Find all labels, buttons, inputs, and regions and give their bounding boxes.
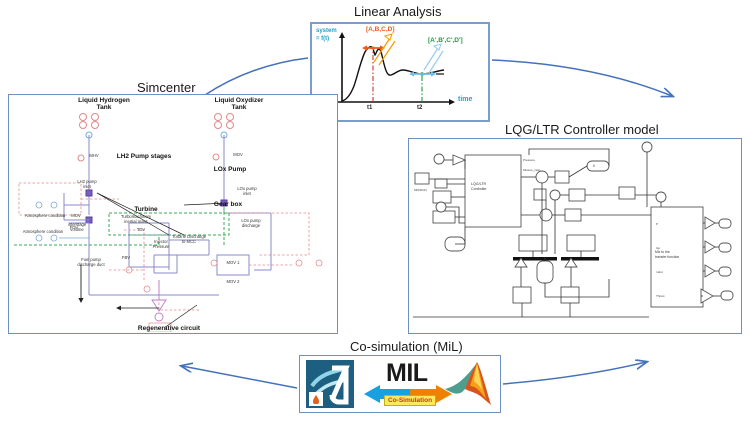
label-atmosphere-condition-2: Atmosphere condition [13,230,73,235]
label-tdv: TDV [133,228,149,233]
simulink-block-diagram: LQG/LTR Controller Mix to the transfer f… [409,139,740,332]
label-fuel-pump-discharge-duct: Fuel pump discharge duct [71,258,111,267]
lqg-controller-panel: LQG/LTR Controller Mix to the transfer f… [408,138,742,334]
title-simcenter: Simcenter [137,80,196,95]
svg-text:Mixture_ratio: Mixture_ratio [523,168,541,172]
label-gear-box: Gear box [205,201,251,208]
label-lh2-pump-stages: LH2 Pump stages [101,153,187,160]
arrow-cosim-to-lqg [503,362,646,384]
arrow-linear-to-lqg [492,60,672,96]
label-lh2-pump-inlet: LH2 pump inlet [71,180,103,189]
title-lqg-controller: LQG/LTR Controller model [505,122,659,137]
chart-x-axis-label: time [458,96,472,103]
label-lh2-tank-valve: MHV [81,154,107,159]
annotation-abcd: [A,B,C,D] [366,26,395,33]
diagram-canvas: Linear Analysis [0,0,750,425]
svg-text:LQG/LTR: LQG/LTR [471,182,487,186]
label-liquid-hydrogen-tank: Liquid Hydrogen Tank [59,97,149,112]
svg-text:Isp: Isp [656,246,660,250]
svg-text:Thrust: Thrust [656,294,665,298]
chart-y-axis-label: system = f(t) [316,28,344,43]
chart-x-arrow [449,99,455,105]
label-regenerative-circuit: Regenerative circuit [119,325,219,332]
svg-text:Mix to the: Mix to the [655,250,670,254]
svg-text:P: P [656,222,658,226]
cosimulation-tag: Co-Simulation [384,395,436,406]
chart-tick-t1: t1 [367,105,372,111]
title-cosimulation: Co-simulation (MiL) [350,339,463,354]
cosimulation-panel: MIL Co-Simulation [299,355,501,413]
svg-text:Controller: Controller [471,187,487,191]
svg-text:MISSION: MISSION [414,188,427,192]
label-turbine: Turbine [124,206,168,213]
svg-text:Pressure: Pressure [523,158,535,162]
label-lox-pump-inlet: LOx pump inlet [231,187,263,196]
mil-label: MIL [386,359,428,388]
amesim-logo [306,360,354,408]
label-liquid-oxydizer-tank: Liquid Oxydizer Tank [194,97,284,112]
chart-tick-t2: t2 [417,105,422,111]
label-mov-1: MOV [66,214,86,219]
label-fov: FOV [65,226,83,231]
simcenter-panel: Liquid Hydrogen Tank LH2 Pump stages Tur… [8,94,338,334]
label-lox-pump: LOx Pump [205,166,255,173]
arrow-cosim-to-simcenter [182,366,297,388]
matlab-logo [443,359,495,409]
annotation-abcd-prime: [A',B',C',D'] [428,37,463,44]
title-linear-analysis: Linear Analysis [354,4,441,19]
label-mov-1-box: MOV 1 [219,261,247,266]
label-fbv: FBV [117,256,135,261]
svg-text:transfer function: transfer function [655,255,679,259]
label-lox-tank-valve: MOV [228,153,248,158]
label-injector-pressure: Injector Pressure [145,240,177,249]
svg-text:mdot: mdot [656,270,663,274]
label-lox-pump-discharge: LOx pump discharge [233,219,269,228]
chart-abcd-prime-callout-arrow [424,48,438,70]
label-mov-2-box: MOV 2 [219,280,247,285]
label-turbomachinery-inertial-mass: Turbomachinery inertial mass [113,215,159,224]
arrow-simcenter-to-linear [205,58,308,95]
